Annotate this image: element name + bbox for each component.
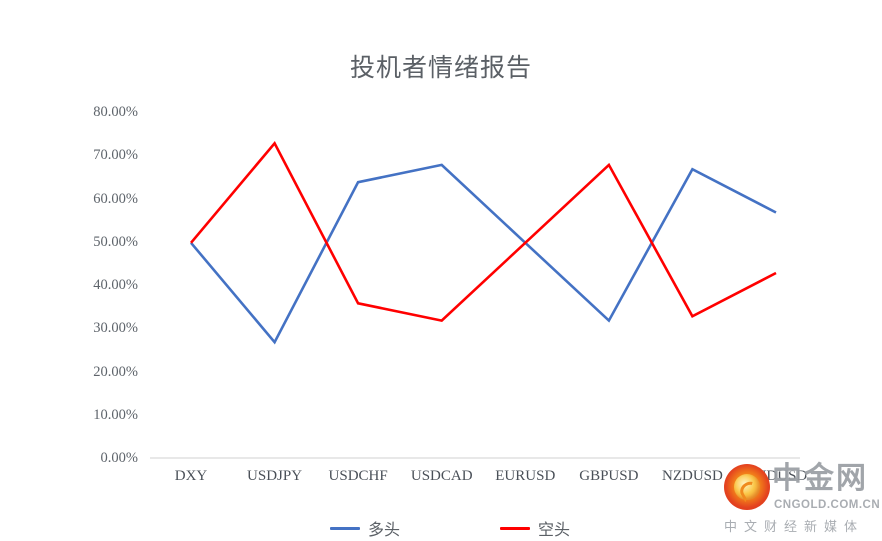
x-axis-tick-label: AUDUSD (731, 468, 821, 485)
y-axis-tick-label: 30.00% (68, 320, 138, 337)
x-axis-tick-label: USDCAD (397, 468, 487, 485)
x-axis-tick-label: EURUSD (480, 468, 570, 485)
y-axis-tick-label: 10.00% (68, 407, 138, 424)
series-line-空头 (191, 143, 776, 320)
sentiment-line-chart: 投机者情绪报告 80.00%70.00%60.00%50.00%40.00%30… (0, 0, 882, 541)
x-axis-tick-label: USDJPY (230, 468, 320, 485)
x-axis-tick-label: USDCHF (313, 468, 403, 485)
x-axis-tick-label: DXY (146, 468, 236, 485)
legend-item-空头[interactable]: 空头 (500, 516, 570, 540)
y-axis-tick-label: 50.00% (68, 234, 138, 251)
y-axis-tick-label: 60.00% (68, 191, 138, 208)
y-axis-tick-label: 80.00% (68, 104, 138, 121)
legend-item-多头[interactable]: 多头 (330, 516, 400, 540)
x-axis-tick-label: NZDUSD (647, 468, 737, 485)
series-line-多头 (191, 165, 776, 342)
y-axis-tick-label: 70.00% (68, 147, 138, 164)
series-layer (191, 143, 776, 342)
legend-swatch-icon (330, 527, 360, 530)
chart-legend: 多头空头 (0, 508, 882, 538)
x-axis-tick-label: GBPUSD (564, 468, 654, 485)
legend-label: 多头 (368, 516, 400, 540)
legend-swatch-icon (500, 527, 530, 530)
y-axis-tick-label: 40.00% (68, 277, 138, 294)
y-axis-tick-label: 0.00% (68, 450, 138, 467)
legend-label: 空头 (538, 516, 570, 540)
y-axis-tick-label: 20.00% (68, 364, 138, 381)
